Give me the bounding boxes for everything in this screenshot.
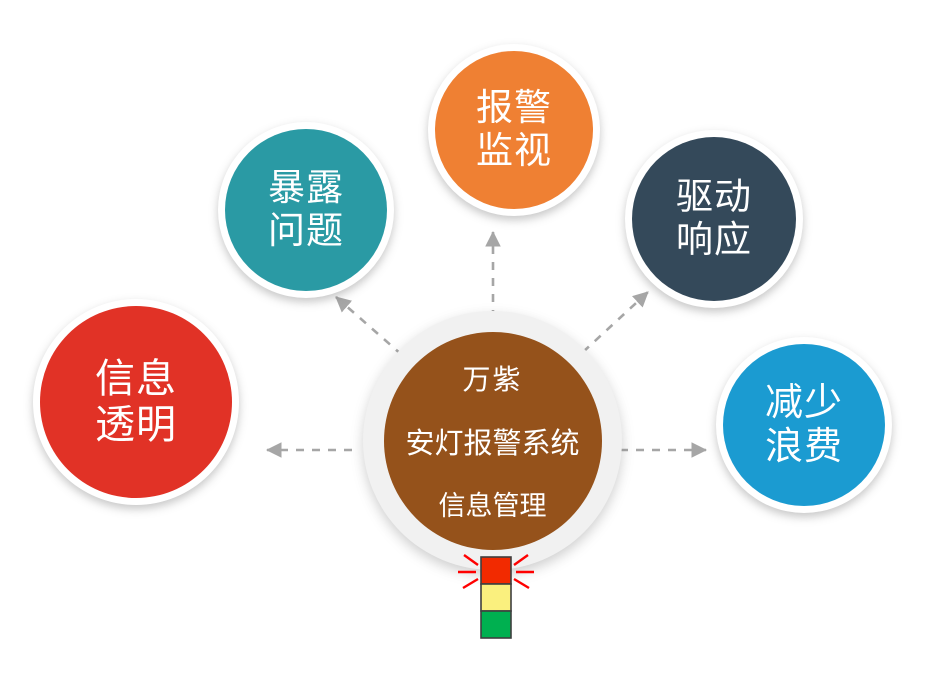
connector-arrow-upper-left: [336, 297, 402, 355]
connector-arrow-upper-right: [583, 292, 648, 352]
center-hub-line-1: 万紫: [462, 358, 522, 398]
andon-light-tower-icon: [450, 548, 542, 644]
node-info-transparent-line-2: 透明: [95, 402, 177, 448]
center-hub-line-2: 安灯报警系统: [405, 420, 579, 462]
node-reduce-waste-disc: 减少 浪费: [723, 344, 885, 506]
node-reduce-waste-line-1: 减少: [765, 381, 843, 425]
center-hub-disc: 万紫 安灯报警系统 信息管理: [384, 332, 602, 550]
node-expose-problem-disc: 暴露 问题: [225, 129, 387, 291]
andon-red-lamp: [481, 557, 511, 584]
node-info-transparent[interactable]: 信息 透明: [33, 299, 239, 505]
node-drive-response-line-2: 响应: [676, 219, 752, 262]
node-info-transparent-line-1: 信息: [95, 356, 177, 402]
node-reduce-waste[interactable]: 减少 浪费: [716, 337, 892, 513]
node-expose-problem-line-2: 问题: [268, 210, 344, 253]
node-info-transparent-disc: 信息 透明: [40, 306, 232, 498]
node-expose-problem-line-1: 暴露: [268, 167, 344, 210]
node-alarm-monitor[interactable]: 报警 监视: [428, 44, 600, 216]
node-drive-response-disc: 驱动 响应: [632, 137, 796, 301]
diagram-canvas: 报警 监视 暴露 问题 驱动 响应 信息 透明 减少 浪费: [0, 0, 939, 680]
center-hub-line-3: 信息管理: [439, 484, 547, 523]
node-reduce-waste-line-2: 浪费: [765, 425, 843, 469]
node-expose-problem[interactable]: 暴露 问题: [218, 122, 394, 298]
node-alarm-monitor-line-2: 监视: [476, 130, 552, 173]
node-drive-response[interactable]: 驱动 响应: [625, 130, 803, 308]
node-alarm-monitor-line-1: 报警: [476, 87, 552, 130]
node-drive-response-line-1: 驱动: [676, 176, 752, 219]
node-alarm-monitor-disc: 报警 监视: [435, 51, 593, 209]
andon-yellow-lamp: [481, 584, 511, 611]
andon-green-lamp: [481, 611, 511, 638]
center-hub[interactable]: 万紫 安灯报警系统 信息管理: [363, 311, 622, 570]
